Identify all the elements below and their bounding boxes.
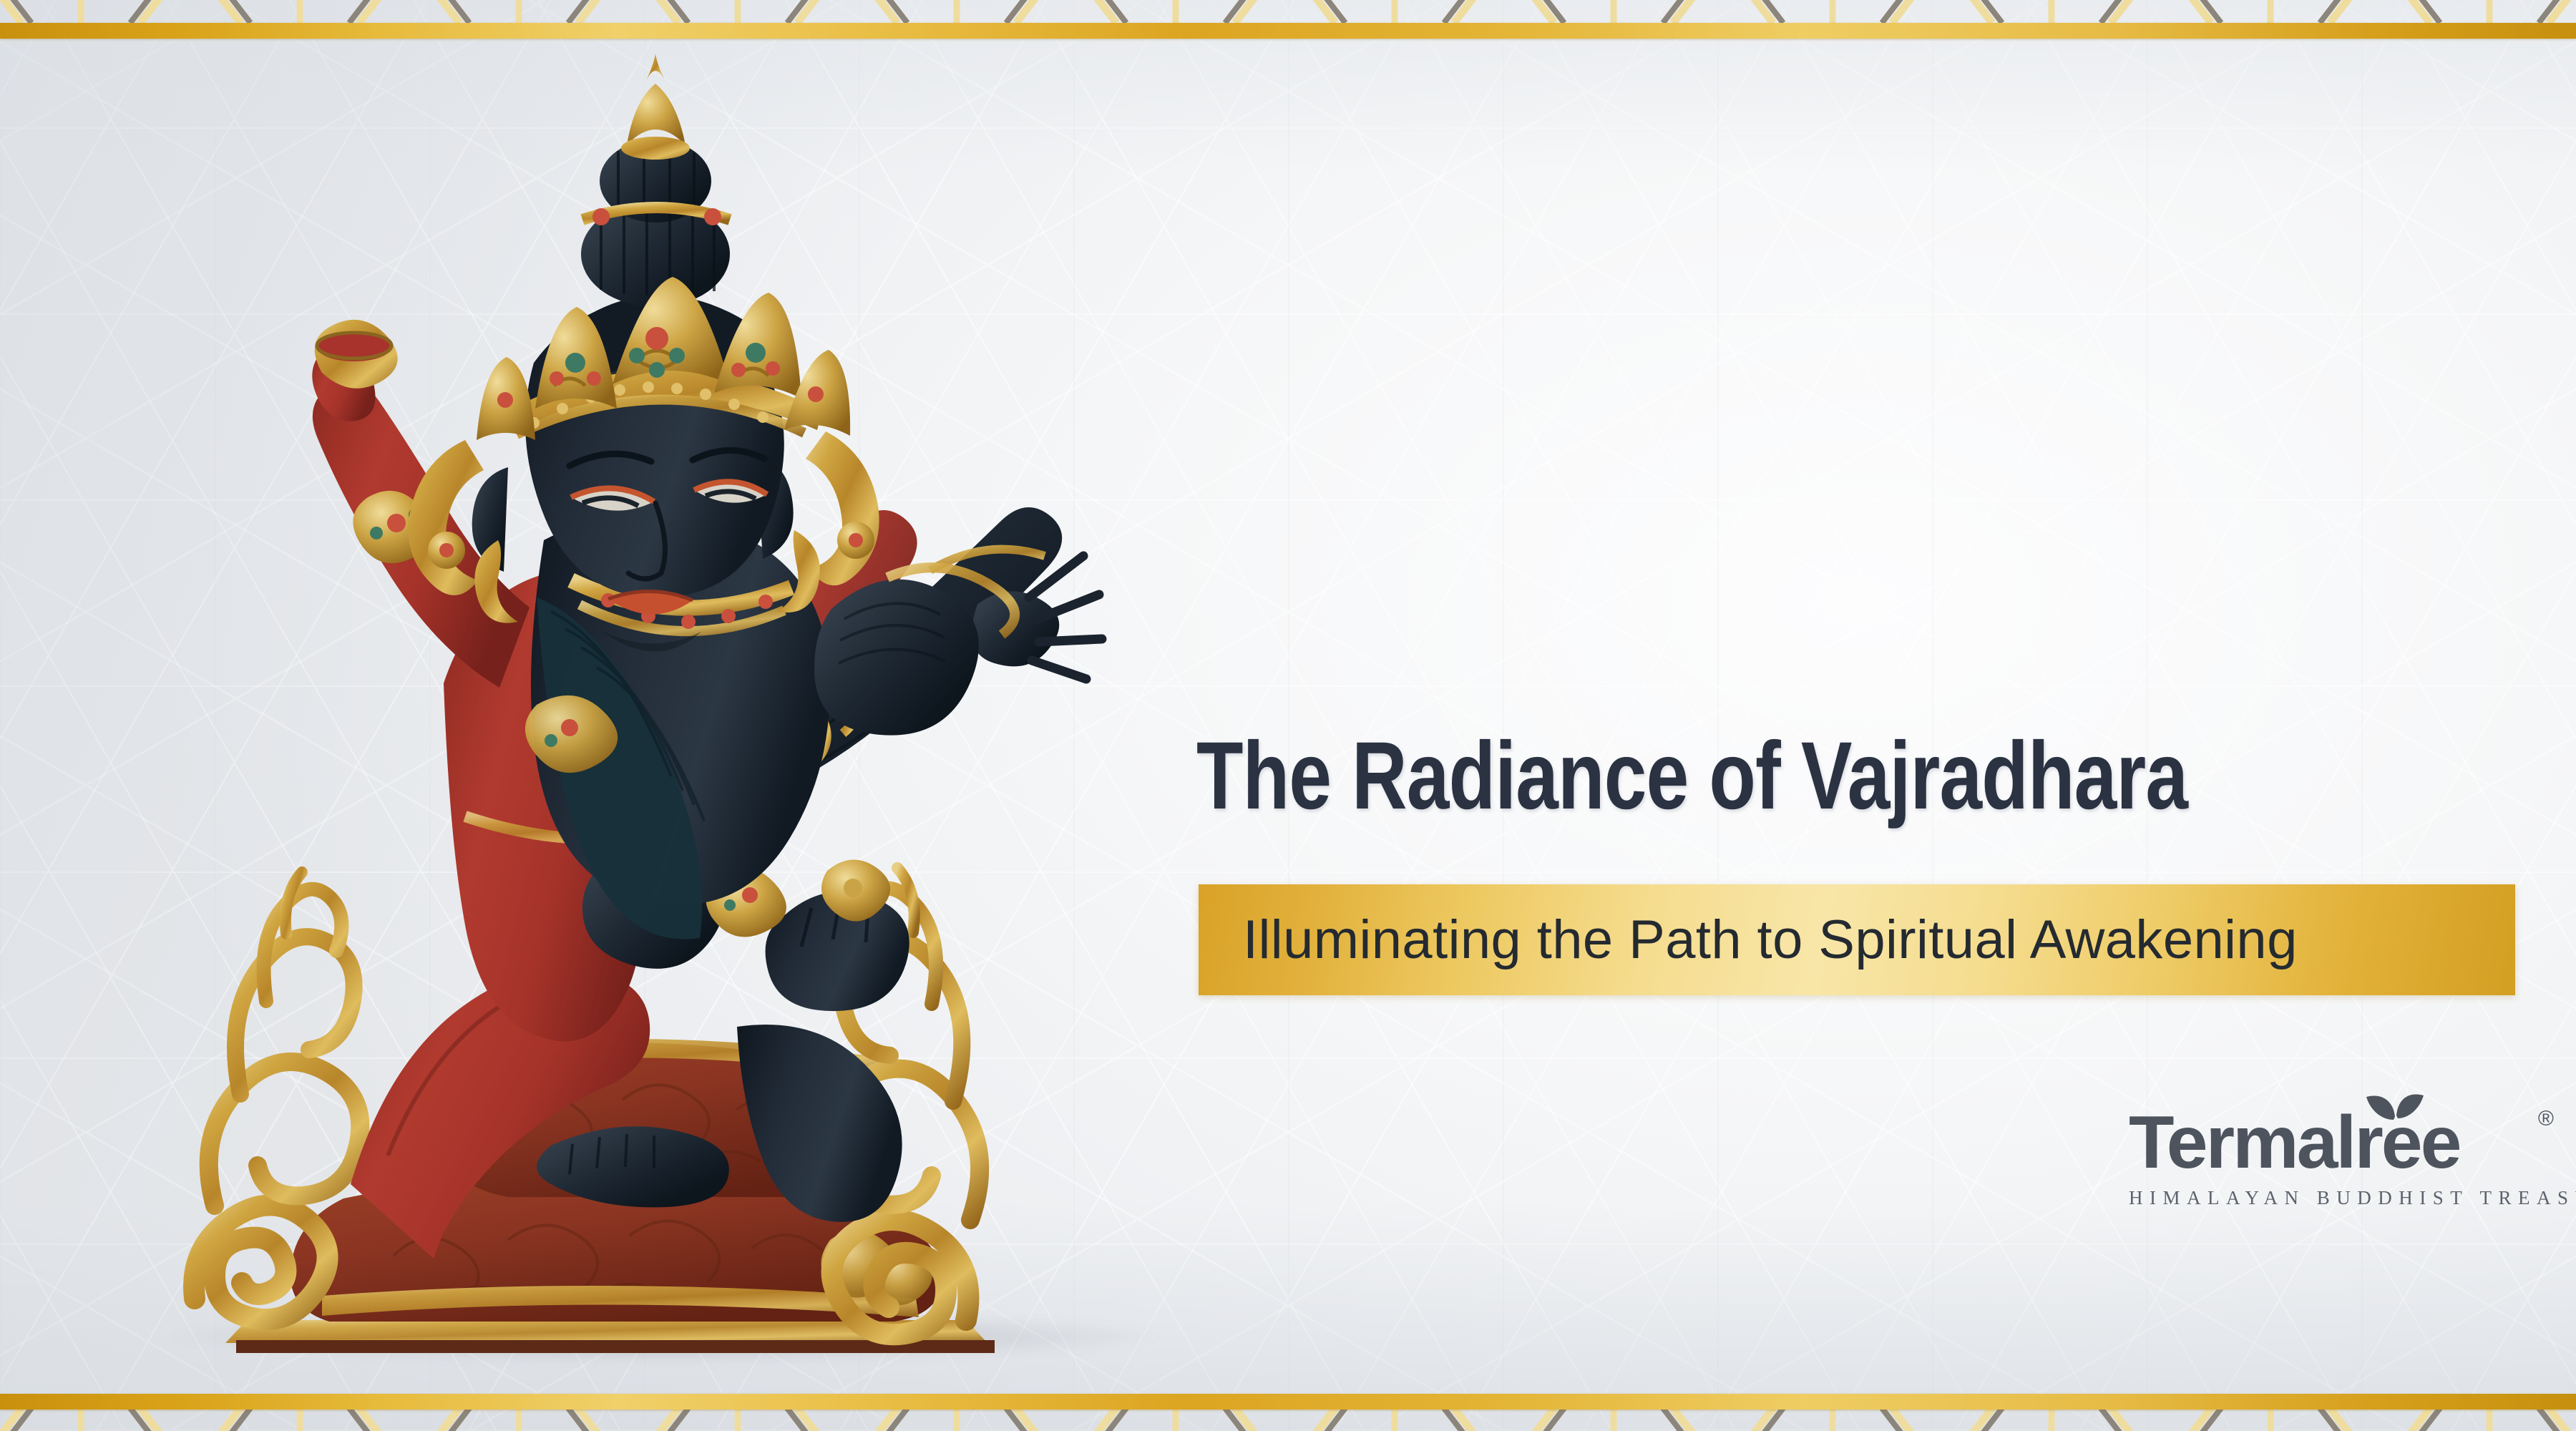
bottom-gold-border xyxy=(0,1352,2576,1431)
logo-wordmark-text: Termalree xyxy=(2129,1101,2459,1184)
registered-trademark-icon: ® xyxy=(2538,1108,2554,1130)
top-chevron-pattern xyxy=(0,0,2576,23)
brand-logo[interactable]: Termalree ® HIMALAYAN BUDDHIST TREASURES xyxy=(2129,1105,2529,1227)
top-gold-border xyxy=(0,0,2576,79)
statue-illustration xyxy=(107,39,1224,1399)
banner-root: The Radiance of Vajradhara Illuminating … xyxy=(0,0,2576,1431)
vajradhara-statue xyxy=(107,39,1224,1399)
bottom-gold-rule xyxy=(0,1394,2576,1410)
logo-wordmark: Termalree ® xyxy=(2129,1105,2529,1180)
subtitle-bar: Illuminating the Path to Spiritual Awake… xyxy=(1199,884,2515,995)
left-scrollwork-ornament xyxy=(194,872,360,1319)
bottom-chevron-pattern xyxy=(0,1408,2576,1431)
front-hand xyxy=(766,859,909,1011)
page-title: The Radiance of Vajradhara xyxy=(1196,728,2273,824)
top-gold-rule xyxy=(0,23,2576,39)
subtitle-text: Illuminating the Path to Spiritual Awake… xyxy=(1243,909,2298,971)
logo-tagline: HIMALAYAN BUDDHIST TREASURES xyxy=(2129,1187,2529,1209)
